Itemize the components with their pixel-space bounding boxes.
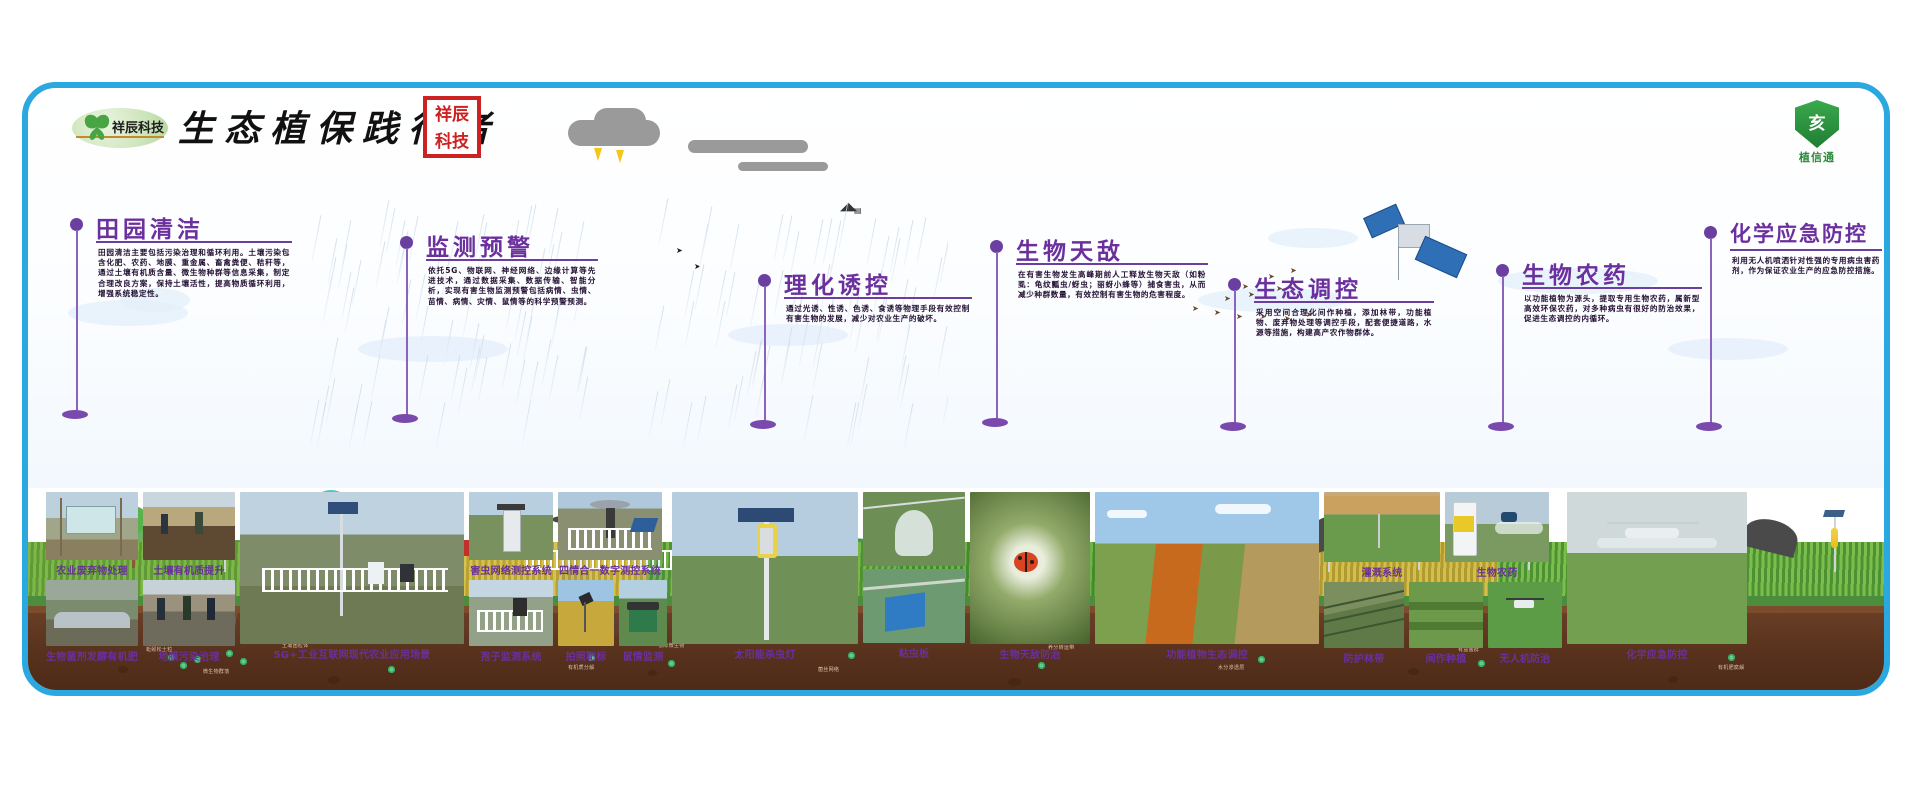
company-name: 祥辰科技 xyxy=(112,117,164,136)
shelterbelt-aerial-photo[interactable] xyxy=(1324,582,1404,648)
section-title: 监测预警 xyxy=(426,228,534,262)
section-body: 采用空间合理化间作种植，添加林带，功能植物、废弃物处理等调控手段，配套便捷道路，… xyxy=(1256,308,1432,339)
poster-header: 祥辰科技 生态植保践行者 祥辰科技 亥 植信通 xyxy=(28,88,1884,174)
gallery-item-big[interactable]: 5G+工业互联网现代农业应用场景 xyxy=(240,492,464,684)
soil-trench-workers-photo[interactable] xyxy=(143,492,235,560)
gallery-item[interactable]: 灌溉系统 xyxy=(1324,492,1440,579)
blue-sticky-board-photo[interactable] xyxy=(863,569,965,643)
photo-caption: 拍照靶标 xyxy=(558,648,614,663)
section-body: 以功能植物为源头，提取专用生物农药，属新型高效环保农药，对多种病虫有很好的防治效… xyxy=(1524,294,1700,325)
rodent-monitor-box-photo[interactable] xyxy=(619,580,667,646)
photo-caption: 间作种植 xyxy=(1409,650,1483,665)
functional-plant-strips-photo[interactable] xyxy=(1095,492,1319,644)
shield-glyph: 亥 xyxy=(1795,109,1839,134)
photo-caption: 灌溉系统 xyxy=(1324,564,1440,579)
photo-caption: 化学应急防控 xyxy=(1567,646,1747,661)
photo-caption: 土壤有机质提升 xyxy=(143,562,235,577)
ladybug-on-flower-photo[interactable] xyxy=(970,492,1090,644)
photo-caption: 5G+工业互联网现代农业应用场景 xyxy=(240,646,464,661)
section-body: 在有害生物发生高峰期前人工释放生物天敌（如粉虱：龟纹瓢虫/蚜虫；丽蚜小蜂等）捕食… xyxy=(1018,270,1206,301)
compost-tunnel-photo[interactable] xyxy=(46,580,138,646)
photo-caption: 害虫网络测控系统 xyxy=(469,562,553,577)
photo-caption: 生物农药 xyxy=(1445,564,1549,579)
spore-monitor-photo[interactable] xyxy=(469,580,553,646)
gallery-item-big[interactable]: 生物天敌防治 xyxy=(970,492,1090,684)
5g-farm-station-photo[interactable] xyxy=(240,492,464,644)
company-logo: 祥辰科技 xyxy=(72,106,168,150)
gallery-item[interactable]: 地膜污染治理 xyxy=(143,580,235,663)
gallery-group-shengwu-nongyao: 灌溉系统 生物农药 xyxy=(1324,492,1562,684)
butterfly-icon xyxy=(82,112,112,142)
gallery-item[interactable]: 粘虫板 xyxy=(863,569,965,660)
insect-net-cage-photo[interactable] xyxy=(863,492,965,566)
gallery-item[interactable]: 孢子监测系统 xyxy=(469,580,553,663)
solar-insect-lamp-photo[interactable] xyxy=(672,492,858,644)
photo-caption: 生物天敌防治 xyxy=(970,646,1090,661)
section-title: 田园清洁 xyxy=(96,210,204,244)
photo-caption: 粘虫板 xyxy=(863,645,965,660)
partner-logo: 亥 植信通 xyxy=(1784,100,1850,162)
photo-caption: 地膜污染治理 xyxy=(143,648,235,663)
photo-caption: 农业废弃物处理 xyxy=(46,562,138,577)
satellite-icon xyxy=(1364,210,1460,288)
sprinkler-irrigation-photo[interactable] xyxy=(1324,492,1440,562)
section-title: 生物天敌 xyxy=(1016,232,1124,266)
photo-caption: 防护林带 xyxy=(1324,650,1404,665)
shield-icon: 亥 xyxy=(1795,100,1839,148)
photo-caption: 生物菌剂发酵有机肥 xyxy=(46,648,138,663)
gallery-item[interactable]: 土壤有机质提升 xyxy=(143,492,235,577)
section-title: 化学应急防控 xyxy=(1730,218,1868,248)
gallery-item[interactable]: 害虫网络测控系统 xyxy=(469,492,553,577)
section-title: 生态调控 xyxy=(1254,270,1362,304)
seal-stamp: 祥辰科技 xyxy=(423,96,481,158)
photo-caption: 太阳能杀虫灯 xyxy=(672,646,858,661)
photo-gallery: 农业废弃物处理 土壤有机质提升 生物菌剂发酵有机肥 xyxy=(46,492,1878,684)
four-in-one-station-photo[interactable] xyxy=(558,492,662,560)
gallery-item[interactable]: 间作种植 xyxy=(1409,582,1483,665)
gallery-item[interactable]: 生物农药 xyxy=(1445,492,1549,579)
gallery-item[interactable]: 鼠情监测 xyxy=(619,580,667,663)
photo-caption: 鼠情监测 xyxy=(619,648,667,663)
gallery-group-tianyuan-qingjie: 农业废弃物处理 土壤有机质提升 生物菌剂发酵有机肥 xyxy=(46,492,235,684)
section-title: 理化诱控 xyxy=(784,266,892,300)
pest-network-monitor-photo[interactable] xyxy=(469,492,553,560)
gallery-item[interactable]: 农业废弃物处理 xyxy=(46,492,138,577)
camera-target-photo[interactable] xyxy=(558,580,614,646)
photo-caption: 功能植物生态调控 xyxy=(1095,646,1319,661)
section-title: 生物农药 xyxy=(1522,256,1630,290)
partner-logo-label: 植信通 xyxy=(1784,149,1850,165)
gallery-item[interactable]: 无人机防治 xyxy=(1488,582,1562,665)
aircraft-spraying-photo[interactable] xyxy=(1567,492,1747,644)
photo-caption: 孢子监测系统 xyxy=(469,648,553,663)
gallery-group-jiance-yujing: 害虫网络测控系统 四情合一数字测控系统 xyxy=(469,492,667,684)
section-body: 通过光诱、性诱、色诱、食诱等物理手段有效控制有害生物的发展，减少对农业生产的破坏… xyxy=(786,304,970,324)
gallery-item-big[interactable]: 太阳能杀虫灯 xyxy=(672,492,858,684)
gallery-item[interactable]: 四情合一数字测控系统 xyxy=(558,492,662,577)
section-body: 田园清洁主要包括污染治理和循环利用。土壤污染包含化肥、农药、地膜、重金属、畜禽粪… xyxy=(98,248,290,299)
photo-caption: 无人机防治 xyxy=(1488,650,1562,665)
mulch-film-cleanup-photo[interactable] xyxy=(143,580,235,646)
gallery-item[interactable]: 生物菌剂发酵有机肥 xyxy=(46,580,138,663)
poster-frame: ◢◣ ▤ ➤ ➤ ➤ ➤ ➤ ➤ ➤ ➤ ➤ ➤ ➤ ➤ ➤ ➤ xyxy=(22,82,1890,696)
gallery-item[interactable]: 拍照靶标 xyxy=(558,580,614,663)
section-body: 利用无人机喷洒针对性强的专用病虫害药剂，作为保证农业生产的应急防控措施。 xyxy=(1732,256,1880,276)
biopesticide-bottle-photo[interactable] xyxy=(1445,492,1549,562)
gallery-item-big[interactable]: 化学应急防控 xyxy=(1567,492,1747,684)
photo-caption: 四情合一数字测控系统 xyxy=(558,562,662,577)
section-body: 依托5G、物联网、神经网络、边缘计算等先进技术，通过数据采集、数据传输、智能分析… xyxy=(428,266,596,307)
drone-spraying-photo[interactable] xyxy=(1488,582,1562,648)
gallery-item[interactable] xyxy=(863,492,965,566)
gallery-item[interactable]: 防护林带 xyxy=(1324,582,1404,665)
gallery-group-lihua-youkong: 粘虫板 xyxy=(863,492,965,684)
field-signboard-photo[interactable] xyxy=(46,492,138,560)
gallery-item-big[interactable]: 功能植物生态调控 xyxy=(1095,492,1319,684)
intercropping-photo[interactable] xyxy=(1409,582,1483,648)
